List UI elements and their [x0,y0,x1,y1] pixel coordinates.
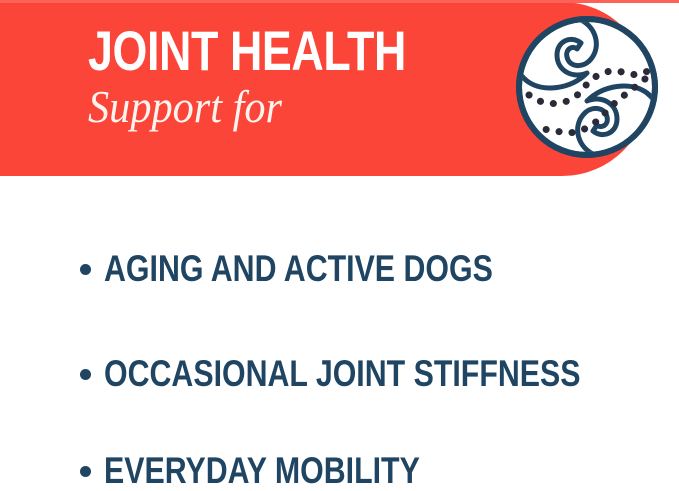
joint-health-icon [513,13,661,161]
list-item: EVERYDAY MOBILITY [80,452,489,490]
page-title: JOINT HEALTH [88,24,424,78]
banner-top-highlight-strip [0,0,679,3]
list-item-label: OCCASIONAL JOINT STIFFNESS [104,355,580,393]
list-item-label: AGING AND ACTIVE DOGS [104,250,493,288]
bullet-dot-icon [80,264,91,275]
list-item: OCCASIONAL JOINT STIFFNESS [80,355,679,393]
list-item-label: EVERYDAY MOBILITY [104,452,420,490]
banner-heading-group: JOINT HEALTH Support for [88,24,508,132]
benefit-list: AGING AND ACTIVE DOGS OCCASIONAL JOINT S… [0,176,679,491]
list-item: AGING AND ACTIVE DOGS [80,250,578,288]
bullet-dot-icon [80,466,91,477]
bullet-dot-icon [80,369,91,380]
product-feature-panel: JOINT HEALTH Support for [0,0,679,491]
page-subtitle: Support for [88,82,474,132]
